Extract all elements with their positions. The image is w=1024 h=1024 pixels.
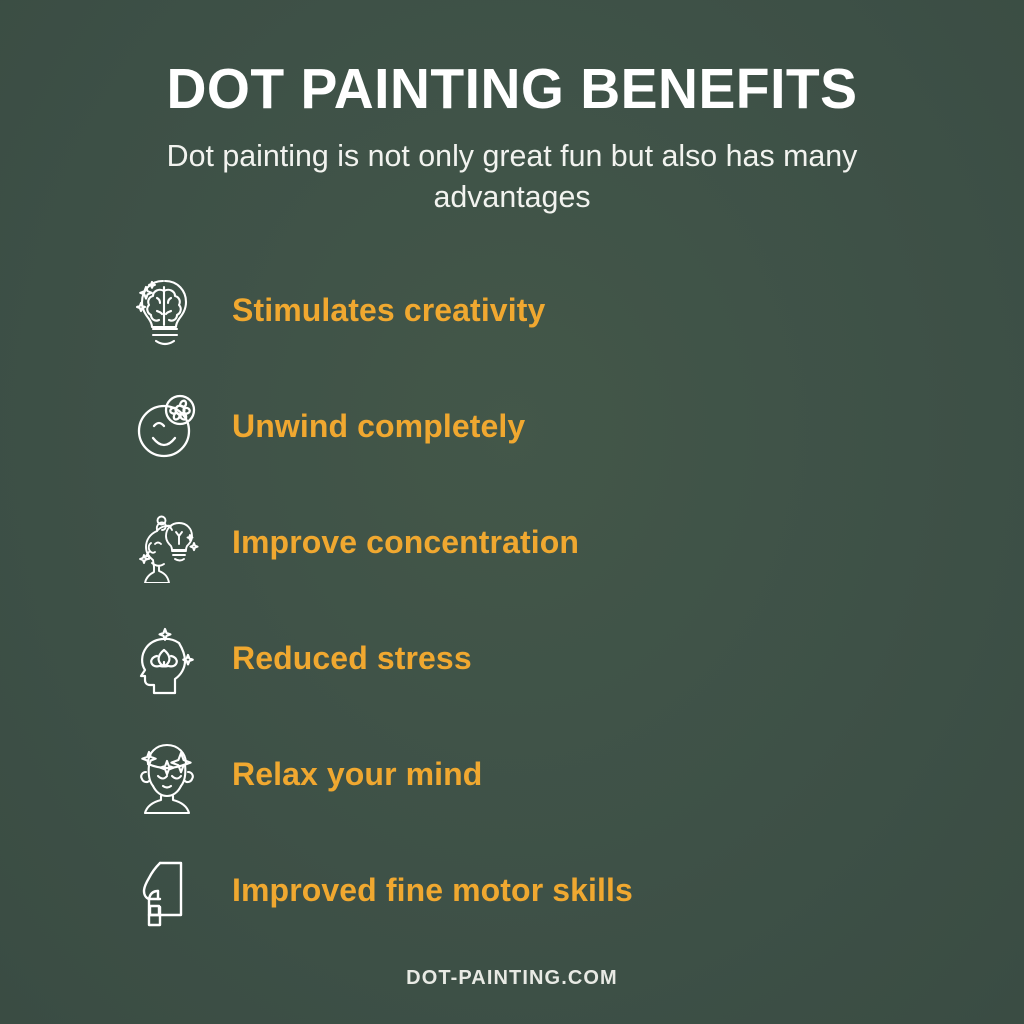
benefit-item-improved-fine-motor-skills: Improved fine motor skills (130, 833, 1024, 949)
infographic-poster: DOT PAINTING BENEFITS Dot painting is no… (0, 0, 1024, 1024)
page-subtitle: Dot painting is not only great fun but a… (149, 136, 874, 217)
benefits-list: Stimulates creativity Unwind complet (0, 253, 1024, 949)
benefit-label: Improved fine motor skills (232, 872, 633, 909)
benefit-label: Improve concentration (232, 524, 579, 561)
benefit-item-unwind-completely: Unwind completely (130, 369, 1024, 485)
calm-face-stars-icon (130, 732, 208, 818)
benefit-label: Stimulates creativity (232, 292, 545, 329)
benefit-label: Reduced stress (232, 640, 472, 677)
benefit-item-stimulates-creativity: Stimulates creativity (130, 253, 1024, 369)
benefit-item-improve-concentration: Improve concentration (130, 485, 1024, 601)
page-title: DOT PAINTING BENEFITS (15, 60, 1008, 119)
poster-header: DOT PAINTING BENEFITS Dot painting is no… (0, 0, 1024, 217)
benefit-label: Unwind completely (232, 408, 525, 445)
woman-head-lightbulb-icon (130, 500, 208, 586)
hand-pinch-grip-icon (130, 848, 208, 934)
benefit-item-reduced-stress: Reduced stress (130, 601, 1024, 717)
brain-lightbulb-icon (130, 268, 208, 354)
benefit-label: Relax your mind (232, 756, 482, 793)
website-url: DOT-PAINTING.COM (406, 967, 618, 989)
poster-footer: DOT-PAINTING.COM (0, 967, 1024, 990)
smiling-face-flower-icon (130, 384, 208, 470)
head-lotus-icon (130, 616, 208, 702)
benefit-item-relax-your-mind: Relax your mind (130, 717, 1024, 833)
